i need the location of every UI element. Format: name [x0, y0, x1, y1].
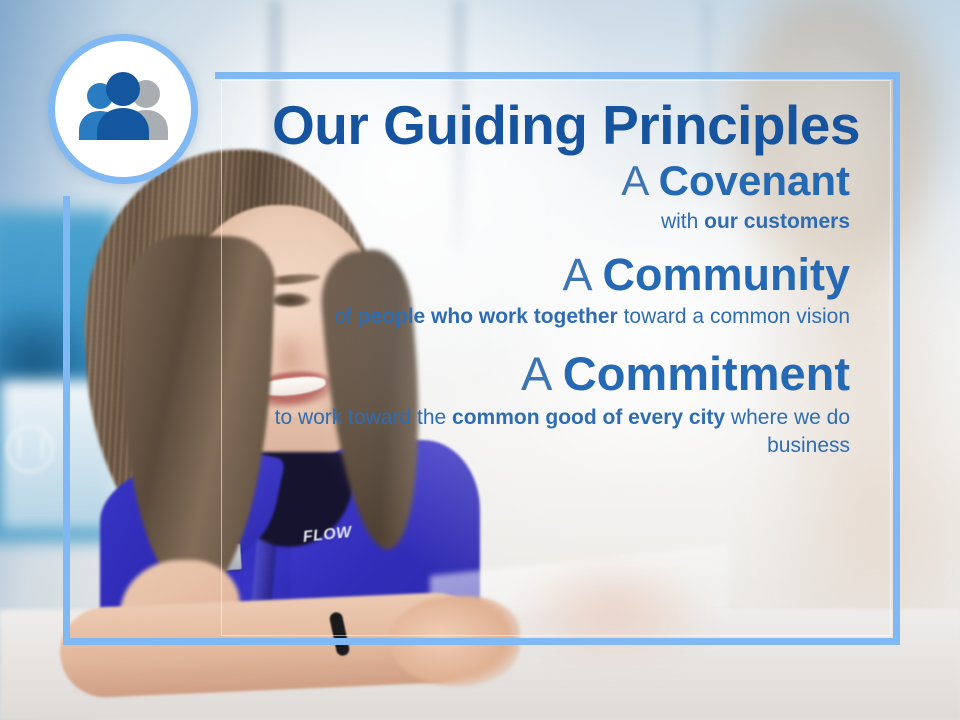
- principle-article: A: [621, 157, 658, 204]
- principle-heading: A Community: [223, 251, 850, 299]
- subtext-post: where we do business: [725, 406, 850, 457]
- banner-graphic: FLOW FLOW: [0, 0, 960, 720]
- principle-heading: A Commitment: [223, 349, 850, 399]
- text-content: Our Guiding Principles A Covenant with o…: [63, 72, 900, 645]
- principle-subtext: with our customers: [223, 208, 850, 236]
- principle-keyword: Covenant: [659, 157, 850, 204]
- principle-covenant: A Covenant with our customers: [223, 159, 866, 235]
- subtext-post: toward a common vision: [618, 305, 850, 328]
- subtext-pre: of: [334, 305, 357, 328]
- principle-subtext: to work toward the common good of every …: [223, 404, 850, 459]
- subtext-pre: with: [661, 210, 704, 233]
- subtext-bold: people who work together: [358, 305, 618, 328]
- principle-article: A: [562, 249, 602, 300]
- subtext-bold: common good of every city: [452, 406, 725, 429]
- principle-commitment: A Commitment to work toward the common g…: [223, 349, 866, 460]
- page-title: Our Guiding Principles: [272, 98, 860, 153]
- principle-heading: A Covenant: [223, 159, 850, 204]
- principle-community: A Community of people who work together …: [223, 251, 866, 330]
- principle-subtext: of people who work together toward a com…: [223, 303, 850, 331]
- principle-keyword: Community: [603, 249, 851, 300]
- subtext-pre: to work toward the: [275, 406, 452, 429]
- subtext-bold: our customers: [704, 210, 850, 233]
- principle-article: A: [521, 347, 563, 400]
- principle-keyword: Commitment: [563, 347, 850, 400]
